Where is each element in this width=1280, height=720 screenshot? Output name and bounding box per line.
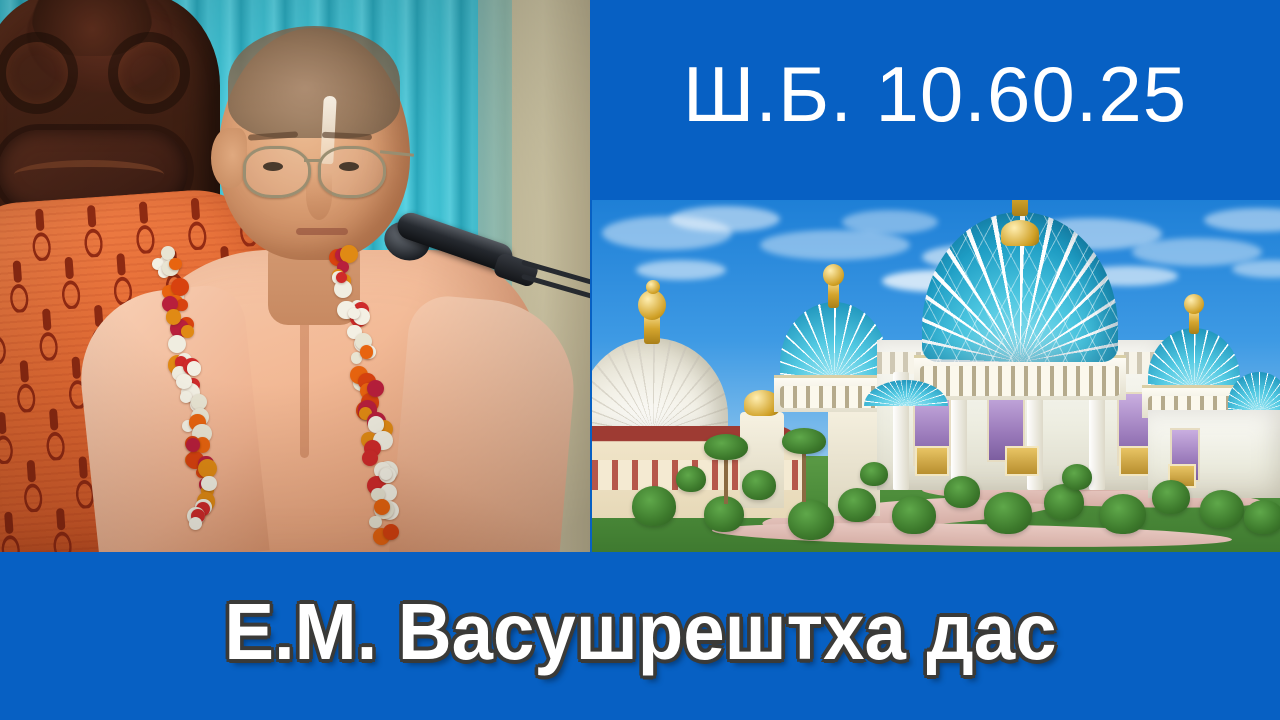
secondary-dome-left-finial bbox=[823, 264, 844, 286]
tree bbox=[1244, 500, 1280, 534]
tree bbox=[632, 486, 676, 526]
thumbnail-canvas: Ш.Б. 10.60.25 bbox=[0, 0, 1280, 720]
cloud bbox=[760, 230, 910, 260]
tree bbox=[1200, 490, 1244, 528]
main-drum-arcade bbox=[920, 366, 1120, 396]
temple-photo bbox=[592, 200, 1280, 552]
tree bbox=[1062, 464, 1092, 490]
speaker-name-banner: Е.М. Васушрештха дас bbox=[0, 552, 1280, 720]
cloud bbox=[1232, 260, 1280, 278]
main-dome-crown bbox=[1001, 220, 1039, 246]
tree bbox=[860, 462, 888, 486]
facade-gold-panel-left bbox=[915, 446, 949, 476]
cloud bbox=[842, 210, 938, 234]
scripture-reference-title: Ш.Б. 10.60.25 bbox=[683, 49, 1187, 140]
samadhi-finial-top bbox=[646, 280, 660, 294]
facade-gold-panel-center bbox=[1005, 446, 1039, 476]
main-dome-spire bbox=[1012, 200, 1028, 216]
tree bbox=[1100, 494, 1146, 534]
samadhi-finial-ball bbox=[638, 290, 666, 320]
tree bbox=[742, 470, 776, 500]
speaker-name: Е.М. Васушрештха дас bbox=[224, 586, 1056, 678]
palm-canopy bbox=[704, 434, 748, 460]
tree bbox=[676, 466, 706, 492]
tree bbox=[788, 500, 834, 540]
palm-canopy bbox=[782, 428, 826, 454]
photo-vignette bbox=[0, 0, 590, 552]
tree bbox=[892, 496, 936, 534]
cloud bbox=[636, 260, 726, 280]
cloud bbox=[1204, 208, 1280, 232]
secondary-dome-right-finial bbox=[1184, 294, 1204, 314]
pushpa-samadhi-dome bbox=[592, 338, 728, 434]
title-band: Ш.Б. 10.60.25 bbox=[590, 0, 1280, 200]
tree bbox=[1152, 480, 1190, 514]
secondary-dome-left bbox=[780, 302, 888, 380]
tree bbox=[984, 492, 1032, 534]
cloud bbox=[670, 206, 780, 232]
tree bbox=[944, 476, 980, 508]
tree bbox=[838, 488, 876, 522]
secondary-dome-right bbox=[1148, 328, 1240, 390]
speaker-photo bbox=[0, 0, 590, 552]
